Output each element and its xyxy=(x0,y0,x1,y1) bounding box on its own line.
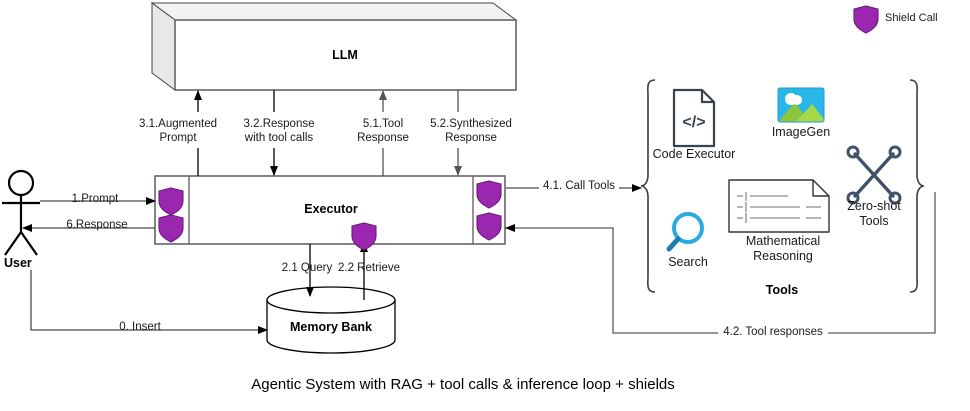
tool-label-search: Search xyxy=(668,255,708,270)
edge-label-0-insert: 0. Insert xyxy=(119,321,161,335)
image-photo-icon xyxy=(778,88,826,122)
edge-label-1-prompt: 1.Prompt xyxy=(72,193,119,207)
edge-label-3-1-augmented-prompt: 3.1.Augmented Prompt xyxy=(139,118,217,145)
executor-node-label: Executor xyxy=(304,202,358,217)
diagram-canvas: </> xyxy=(0,0,970,411)
llm-node-label: LLM xyxy=(332,48,358,63)
llm-node-shape xyxy=(152,3,516,90)
magnifier-icon xyxy=(669,214,702,249)
edge-label-6-response: 6.Response xyxy=(66,219,127,233)
tool-label-image-gen: ImageGen xyxy=(772,125,830,140)
edge-label-2-1-query: 2.1 Query xyxy=(282,262,333,276)
diagram-vector-layer: </> xyxy=(0,0,970,411)
tool-label-code-executor: Code Executor xyxy=(653,147,736,162)
diagram-caption: Agentic System with RAG + tool calls & i… xyxy=(251,376,675,394)
shield-memory-icon xyxy=(352,223,376,250)
legend-shield-label: Shield Call xyxy=(885,12,938,25)
tools-group-label: Tools xyxy=(766,283,798,298)
edge-label-4-2-tool-responses: 4.2. Tool responses xyxy=(718,326,828,340)
tools-group-brace-left xyxy=(641,80,655,292)
legend-shield-icon xyxy=(854,6,878,33)
math-document-icon xyxy=(729,180,829,232)
svg-text:</>: </> xyxy=(682,114,705,131)
memory-bank-node-label: Memory Bank xyxy=(290,320,372,335)
user-stick-figure xyxy=(2,171,40,255)
edge-label-5-1-tool-response: 5.1.Tool Response xyxy=(357,118,409,145)
code-file-icon: </> xyxy=(674,90,714,146)
edge-label-5-2-synthesized-response: 5.2.Synthesized Response xyxy=(430,118,512,145)
edge-label-4-1-call-tools: 4.1. Call Tools xyxy=(539,180,619,194)
tool-label-zero-shot-tools: Zero-shot Tools xyxy=(847,199,901,229)
tools-group-brace-right xyxy=(910,80,924,292)
edge-label-3-2-response-tool-calls: 3.2.Response with tool calls xyxy=(244,118,315,145)
crossed-wrench-screwdriver-icon xyxy=(848,147,900,203)
tool-label-math-reasoning: Mathematical Reasoning xyxy=(746,234,820,264)
user-node-label: User xyxy=(4,256,32,271)
edge-label-2-2-retrieve: 2.2 Retrieve xyxy=(338,262,400,276)
